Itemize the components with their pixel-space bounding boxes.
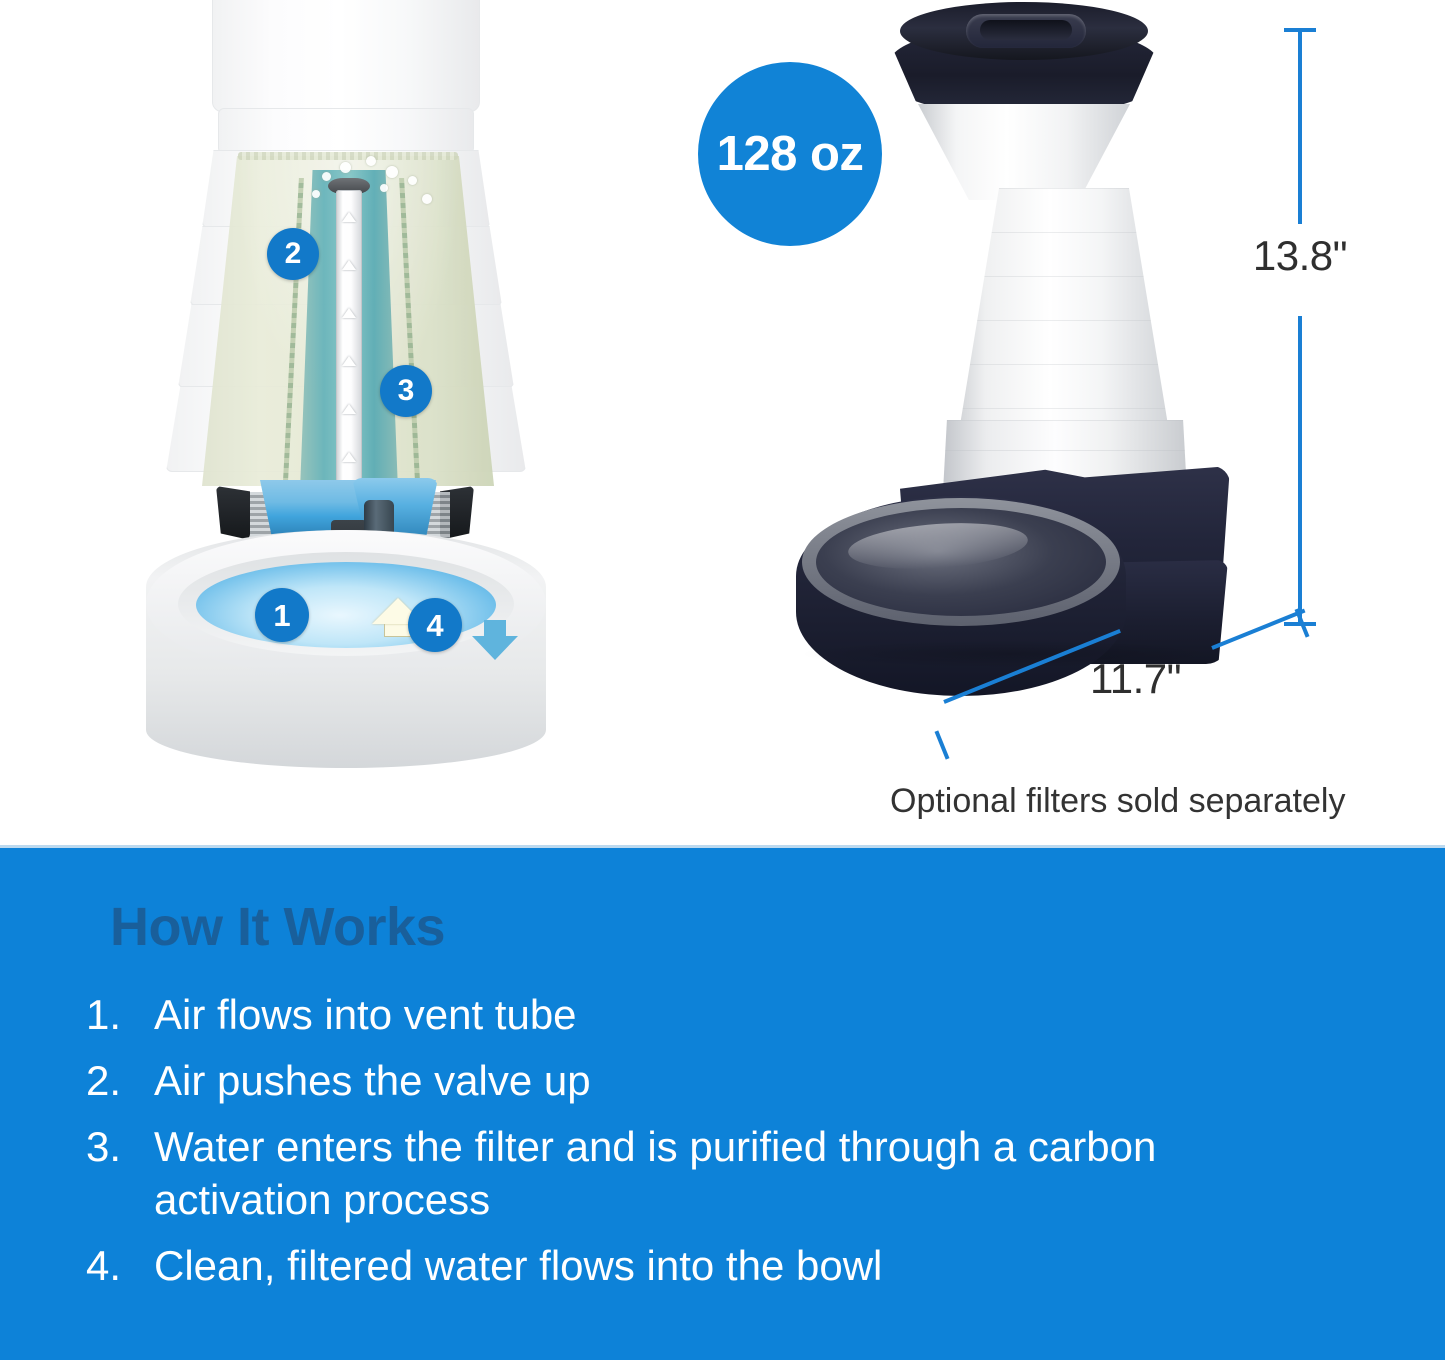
how-it-works-step: 4. Clean, filtered water flows into the … [86, 1239, 1286, 1293]
how-it-works-steps-list: 1. Air flows into vent tube 2. Air pushe… [86, 988, 1286, 1305]
vent-arrow-icon [342, 212, 356, 222]
product-infographic: 2 3 1 4 128 oz 13.8" [0, 0, 1445, 1360]
diagram-callout-3: 3 [380, 365, 432, 417]
step-number: 1. [86, 988, 154, 1042]
optional-filters-note: Optional filters sold separately [890, 782, 1435, 821]
air-bubble [322, 172, 331, 181]
air-bubble [408, 176, 417, 185]
step-number: 2. [86, 1054, 154, 1108]
how-it-works-step: 3. Water enters the filter and is purifi… [86, 1120, 1286, 1228]
product-imagery-section: 2 3 1 4 128 oz 13.8" [0, 0, 1445, 845]
width-dimension-cap-left [935, 730, 950, 759]
filter-media-top-edge [238, 152, 458, 160]
diagram-callout-2: 2 [267, 228, 319, 280]
product-photo [790, 0, 1260, 700]
air-bubble [366, 156, 376, 166]
how-it-works-step: 2. Air pushes the valve up [86, 1054, 1286, 1108]
step-text: Clean, filtered water flows into the bow… [154, 1239, 882, 1293]
air-bubble [312, 190, 320, 198]
diagram-callout-1: 1 [255, 588, 309, 642]
lid-handle-slot [980, 20, 1072, 40]
vent-arrow-icon [342, 356, 356, 366]
height-dimension-label: 13.8" [1232, 232, 1368, 280]
air-bubble [380, 184, 388, 192]
how-it-works-panel: How It Works 1. Air flows into vent tube… [0, 845, 1445, 1360]
vent-arrow-icon [342, 452, 356, 462]
vent-arrow-icon [342, 404, 356, 414]
water-down-arrow-icon [472, 636, 518, 660]
how-it-works-title: How It Works [110, 896, 445, 958]
cutaway-diagram-illustration: 2 3 1 4 [140, 0, 560, 780]
air-bubble [386, 166, 398, 178]
reservoir-clip-left [216, 486, 250, 540]
height-dimension-line-upper [1298, 30, 1302, 224]
air-bubble [422, 194, 432, 204]
vent-arrow-icon [342, 260, 356, 270]
step-number: 3. [86, 1120, 154, 1174]
step-number: 4. [86, 1239, 154, 1293]
height-dimension-line-lower [1298, 316, 1302, 626]
vent-arrow-icon [342, 308, 356, 318]
step-text: Water enters the filter and is purified … [154, 1120, 1286, 1228]
diagram-callout-4: 4 [408, 598, 462, 652]
step-text: Air flows into vent tube [154, 988, 577, 1042]
air-bubble [340, 162, 351, 173]
how-it-works-step: 1. Air flows into vent tube [86, 988, 1286, 1042]
step-text: Air pushes the valve up [154, 1054, 591, 1108]
width-dimension-label: 11.7" [1090, 655, 1240, 703]
reservoir-neck-segment [218, 108, 474, 154]
bottle-neck [918, 104, 1130, 200]
reservoir-top-segment [212, 0, 480, 112]
